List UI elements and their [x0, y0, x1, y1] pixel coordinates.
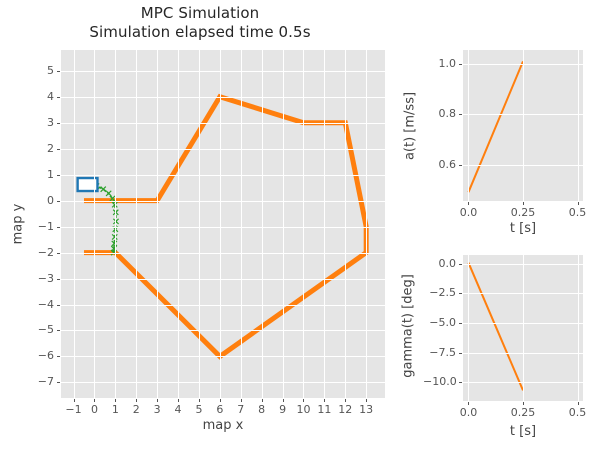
y-tick-mark: [459, 264, 462, 265]
x-tick-mark: [523, 202, 524, 205]
x-tick-label: 13: [359, 404, 373, 416]
y-tick-mark: [57, 279, 60, 280]
map-y-axis-label: map y: [11, 204, 26, 245]
x-tick-label: 8: [258, 404, 265, 416]
y-tick-label: −2: [21, 247, 54, 259]
x-tick-label: −1: [65, 404, 81, 416]
gridline-horizontal: [61, 227, 385, 228]
y-tick-mark: [459, 382, 462, 383]
gridline-horizontal: [61, 253, 385, 254]
x-tick-label: 0.0: [460, 207, 478, 219]
x-tick-mark: [578, 202, 579, 205]
x-tick-mark: [468, 202, 469, 205]
gridline-vertical: [136, 50, 137, 398]
gridline-vertical: [115, 50, 116, 398]
y-tick-label: 4: [21, 91, 54, 103]
gridline-horizontal: [463, 165, 583, 166]
y-tick-label: 5: [21, 65, 54, 77]
gridline-vertical: [94, 50, 95, 398]
y-tick-label: 1.0: [423, 58, 456, 70]
gridline-horizontal: [61, 305, 385, 306]
title-line-1: MPC Simulation: [141, 4, 260, 22]
gridline-horizontal: [463, 353, 583, 354]
x-tick-mark: [262, 399, 263, 402]
y-tick-label: −4: [21, 299, 54, 311]
y-tick-mark: [459, 165, 462, 166]
gridline-horizontal: [463, 293, 583, 294]
x-tick-label: 4: [175, 404, 182, 416]
acceleration-line: [468, 61, 523, 192]
y-tick-mark: [459, 353, 462, 354]
gridline-horizontal: [61, 175, 385, 176]
x-tick-mark: [157, 399, 158, 402]
acceleration-y-axis-label: a(t) [m/ss]: [403, 92, 418, 160]
y-tick-mark: [459, 114, 462, 115]
gridline-horizontal: [61, 97, 385, 98]
y-tick-mark: [459, 293, 462, 294]
y-tick-mark: [57, 227, 60, 228]
y-tick-mark: [57, 382, 60, 383]
y-tick-label: −10.0: [423, 376, 456, 388]
x-tick-mark: [241, 399, 242, 402]
y-tick-label: 3: [21, 117, 54, 129]
gridline-horizontal: [61, 279, 385, 280]
x-tick-mark: [199, 399, 200, 402]
x-tick-label: 0: [91, 404, 98, 416]
x-tick-label: 0.5: [569, 407, 587, 419]
y-tick-label: 0.8: [423, 108, 456, 120]
gridline-vertical: [283, 50, 284, 398]
x-tick-mark: [324, 399, 325, 402]
y-tick-label: 1: [21, 169, 54, 181]
y-tick-mark: [57, 330, 60, 331]
map-data-layer: [61, 50, 385, 398]
gridline-vertical: [241, 50, 242, 398]
gridline-horizontal: [61, 330, 385, 331]
gridline-vertical: [345, 50, 346, 398]
x-tick-label: 5: [195, 404, 202, 416]
trajectory-marker: [101, 187, 106, 192]
page-title: MPC Simulation Simulation elapsed time 0…: [0, 4, 400, 42]
acceleration-x-axis-label: t [s]: [510, 221, 536, 236]
gridline-horizontal: [463, 114, 583, 115]
x-tick-mark: [578, 402, 579, 405]
y-tick-mark: [57, 305, 60, 306]
y-tick-label: −1: [21, 221, 54, 233]
x-tick-label: 11: [317, 404, 331, 416]
x-tick-label: 0.0: [460, 407, 478, 419]
map-plot-area: [61, 50, 385, 398]
y-tick-label: −6: [21, 350, 54, 362]
x-tick-mark: [345, 399, 346, 402]
x-tick-mark: [366, 399, 367, 402]
gridline-vertical: [178, 50, 179, 398]
y-tick-label: −3: [21, 273, 54, 285]
x-tick-label: 0.25: [511, 407, 536, 419]
gridline-horizontal: [61, 201, 385, 202]
y-tick-mark: [57, 356, 60, 357]
gridline-horizontal: [61, 382, 385, 383]
gridline-horizontal: [61, 123, 385, 124]
trajectory-marker: [106, 191, 111, 196]
x-tick-mark: [136, 399, 137, 402]
gridline-vertical: [220, 50, 221, 398]
x-tick-mark: [523, 402, 524, 405]
x-tick-mark: [115, 399, 116, 402]
y-tick-label: 0.0: [423, 258, 456, 270]
x-tick-mark: [283, 399, 284, 402]
y-tick-mark: [459, 323, 462, 324]
y-tick-mark: [57, 201, 60, 202]
y-tick-mark: [57, 175, 60, 176]
x-tick-label: 10: [296, 404, 310, 416]
gridline-vertical: [74, 50, 75, 398]
x-tick-label: 12: [338, 404, 352, 416]
gridline-vertical: [523, 50, 524, 201]
gridline-horizontal: [463, 382, 583, 383]
gridline-vertical: [262, 50, 263, 398]
gamma-plot-area: [463, 255, 583, 401]
y-tick-mark: [57, 71, 60, 72]
gamma-x-axis-label: t [s]: [510, 424, 536, 439]
x-tick-mark: [220, 399, 221, 402]
gridline-vertical: [578, 50, 579, 201]
gridline-vertical: [324, 50, 325, 398]
x-tick-label: 2: [133, 404, 140, 416]
x-tick-label: 0.25: [511, 207, 536, 219]
gridline-horizontal: [61, 71, 385, 72]
x-tick-label: 7: [237, 404, 244, 416]
gridline-horizontal: [61, 149, 385, 150]
y-tick-label: −2.5: [423, 287, 456, 299]
x-tick-label: 9: [279, 404, 286, 416]
gridline-vertical: [578, 255, 579, 401]
y-tick-label: −7: [21, 376, 54, 388]
y-tick-label: 0: [21, 195, 54, 207]
x-tick-mark: [468, 402, 469, 405]
x-tick-label: 3: [154, 404, 161, 416]
gridline-vertical: [199, 50, 200, 398]
x-tick-mark: [94, 399, 95, 402]
gridline-horizontal: [463, 264, 583, 265]
x-tick-label: 1: [112, 404, 119, 416]
x-tick-mark: [178, 399, 179, 402]
gamma-line: [468, 263, 523, 391]
title-line-2: Simulation elapsed time 0.5s: [0, 23, 400, 42]
gridline-horizontal: [463, 64, 583, 65]
y-tick-label: −5.0: [423, 317, 456, 329]
y-tick-mark: [57, 253, 60, 254]
y-tick-label: 0.6: [423, 159, 456, 171]
y-tick-mark: [57, 149, 60, 150]
gridline-vertical: [303, 50, 304, 398]
y-tick-label: 2: [21, 143, 54, 155]
acceleration-plot-area: [463, 50, 583, 201]
map-x-axis-label: map x: [203, 418, 244, 433]
y-tick-label: −5: [21, 324, 54, 336]
y-tick-label: −7.5: [423, 347, 456, 359]
x-tick-mark: [303, 399, 304, 402]
gridline-horizontal: [463, 323, 583, 324]
y-tick-mark: [459, 64, 462, 65]
gridline-vertical: [157, 50, 158, 398]
gridline-vertical: [468, 50, 469, 201]
gridline-horizontal: [61, 356, 385, 357]
gridline-vertical: [523, 255, 524, 401]
y-tick-mark: [57, 97, 60, 98]
y-tick-mark: [57, 123, 60, 124]
x-tick-label: 6: [216, 404, 223, 416]
gridline-vertical: [468, 255, 469, 401]
x-tick-label: 0.5: [569, 207, 587, 219]
gridline-vertical: [366, 50, 367, 398]
x-tick-mark: [74, 399, 75, 402]
gamma-y-axis-label: gamma(t) [deg]: [401, 274, 416, 378]
title-main: MPC Simulation: [141, 4, 260, 22]
